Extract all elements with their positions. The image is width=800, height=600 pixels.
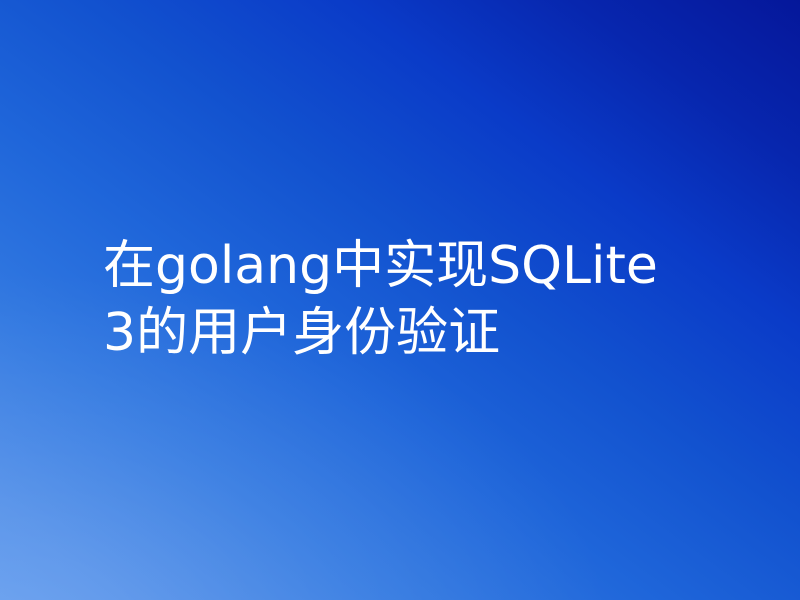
page-title: 在golang中实现SQLite3的用户身份验证 xyxy=(103,233,669,367)
title-block: 在golang中实现SQLite3的用户身份验证 xyxy=(103,0,669,600)
cover-card: 在golang中实现SQLite3的用户身份验证 xyxy=(0,0,800,600)
